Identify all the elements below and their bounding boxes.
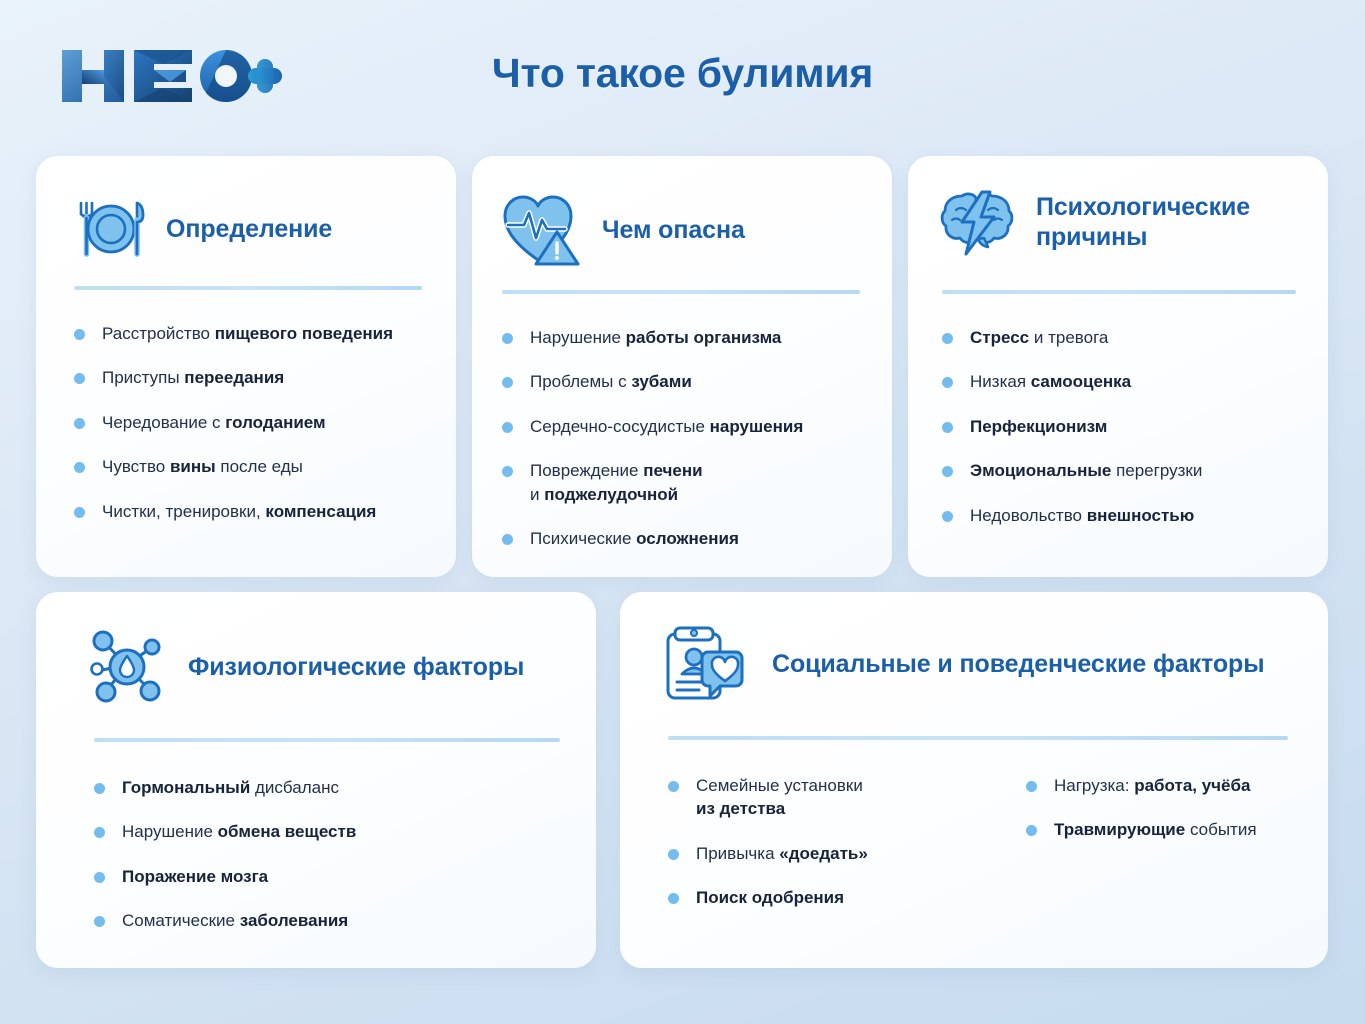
- list-item: Нагрузка: работа, учёба: [1026, 774, 1316, 797]
- list-item: Поражение мозга: [94, 865, 566, 888]
- list-item: Соматические заболевания: [94, 909, 566, 932]
- list-item: Чистки, тренировки, компенсация: [74, 500, 426, 523]
- list-item: Нарушение обмена веществ: [94, 820, 566, 843]
- list-item: Эмоциональные перегрузки: [942, 459, 1302, 482]
- list-item: Стресс и тревога: [942, 326, 1302, 349]
- list-item: Сердечно-сосудистые нарушения: [502, 415, 866, 438]
- plate-cutlery-icon: [74, 198, 148, 260]
- list-item: Чередование с голоданием: [74, 411, 426, 434]
- list-item: Гормональный дисбаланс: [94, 776, 566, 799]
- card-title: Чем опасна: [602, 215, 745, 246]
- list-item: Чувство вины после еды: [74, 455, 426, 478]
- card-header: Социальные и поведенческие факторы: [620, 592, 1328, 704]
- social-columns: Семейные установкииз детства Привычка «д…: [668, 774, 1298, 910]
- physiological-list: Гормональный дисбаланс Нарушение обмена …: [94, 776, 566, 933]
- card-psychological-causes: Психологические причины Стресс и тревога…: [908, 156, 1328, 577]
- clipboard-person-heart-icon: [662, 624, 748, 704]
- page-title: Что такое булимия: [0, 50, 1365, 97]
- list-item: Расстройство пищевого поведения: [74, 322, 426, 345]
- list-item: Проблемы с зубами: [502, 370, 866, 393]
- list-item: Перфекционизм: [942, 415, 1302, 438]
- card-divider: [668, 736, 1288, 740]
- page-header: Что такое булимия: [0, 0, 1365, 140]
- list-item: Травмирующие события: [1026, 818, 1316, 841]
- card-header: Чем опасна: [472, 156, 892, 268]
- card-header: Физиологические факторы: [36, 592, 596, 706]
- card-title: Психологические причины: [1036, 192, 1328, 253]
- list-item: Нарушение работы организма: [502, 326, 866, 349]
- list-item: Привычка «доедать»: [668, 842, 998, 865]
- card-danger: Чем опасна Нарушение работы организма Пр…: [472, 156, 892, 577]
- list-item: Недовольство внешностью: [942, 504, 1302, 527]
- molecule-hormone-icon: [88, 628, 166, 706]
- card-title: Физиологические факторы: [188, 652, 524, 683]
- heart-warning-icon: [500, 192, 584, 268]
- card-divider: [74, 286, 422, 290]
- card-divider: [94, 738, 560, 742]
- card-physiological-factors: Физиологические факторы Гормональный дис…: [36, 592, 596, 968]
- card-title: Определение: [166, 214, 332, 245]
- card-header: Психологические причины: [908, 156, 1328, 260]
- social-list-left: Семейные установкииз детства Привычка «д…: [668, 774, 998, 910]
- definition-list: Расстройство пищевого поведения Приступы…: [74, 322, 426, 523]
- brain-lightning-icon: [938, 184, 1018, 260]
- list-item: Повреждение печении поджелудочной: [502, 459, 866, 506]
- psychological-list: Стресс и тревога Низкая самооценка Перфе…: [942, 326, 1302, 527]
- list-item: Низкая самооценка: [942, 370, 1302, 393]
- list-item: Психические осложнения: [502, 527, 866, 550]
- card-definition: Определение Расстройство пищевого поведе…: [36, 156, 456, 577]
- danger-list: Нарушение работы организма Проблемы с зу…: [502, 326, 866, 551]
- list-item: Семейные установкииз детства: [668, 774, 998, 821]
- social-list-right: Нагрузка: работа, учёба Травмирующие соб…: [1026, 774, 1316, 910]
- card-social-behavioral-factors: Социальные и поведенческие факторы Семей…: [620, 592, 1328, 968]
- list-item: Приступы переедания: [74, 366, 426, 389]
- card-title: Социальные и поведенческие факторы: [772, 649, 1264, 680]
- list-item: Поиск одобрения: [668, 886, 998, 909]
- card-header: Определение: [36, 156, 456, 260]
- card-divider: [942, 290, 1296, 294]
- card-divider: [502, 290, 860, 294]
